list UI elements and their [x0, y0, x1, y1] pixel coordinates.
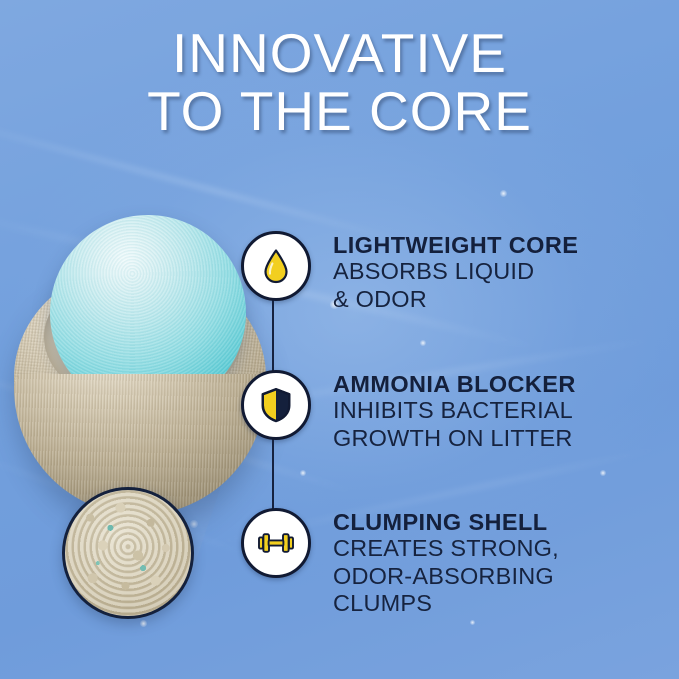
feature-description: CREATES STRONG, ODOR-ABSORBING CLUMPS: [333, 535, 559, 618]
sparkle: [420, 340, 426, 346]
feature-description-line: & ODOR: [333, 286, 578, 314]
feature-row-lightweight-core: LIGHTWEIGHT CORE ABSORBS LIQUID & ODOR: [241, 231, 578, 313]
page-title: INNOVATIVE TO THE CORE: [0, 24, 679, 140]
feature-description-line: CREATES STRONG,: [333, 535, 559, 563]
feature-text: AMMONIA BLOCKER INHIBITS BACTERIAL GROWT…: [333, 370, 576, 452]
sparkle: [500, 190, 507, 197]
feature-description-line: CLUMPS: [333, 590, 559, 618]
feature-badge: [241, 370, 311, 440]
shield-icon: [257, 386, 295, 424]
feature-row-ammonia-blocker: AMMONIA BLOCKER INHIBITS BACTERIAL GROWT…: [241, 370, 576, 452]
magnified-litter-granules: [62, 487, 194, 619]
infographic-canvas: INNOVATIVE TO THE CORE LIGHTWEIGHT CORE …: [0, 0, 679, 679]
droplet-icon: [257, 247, 295, 285]
feature-description-line: ODOR-ABSORBING: [333, 563, 559, 591]
feature-badge: [241, 508, 311, 578]
feature-text: LIGHTWEIGHT CORE ABSORBS LIQUID & ODOR: [333, 231, 578, 313]
feature-row-clumping-shell: CLUMPING SHELL CREATES STRONG, ODOR-ABSO…: [241, 508, 559, 618]
feature-description-line: INHIBITS BACTERIAL: [333, 397, 576, 425]
feature-title: LIGHTWEIGHT CORE: [333, 232, 578, 258]
page-title-line-1: INNOVATIVE: [0, 24, 679, 82]
feature-description-line: GROWTH ON LITTER: [333, 425, 576, 453]
feature-description: INHIBITS BACTERIAL GROWTH ON LITTER: [333, 397, 576, 452]
feature-title: AMMONIA BLOCKER: [333, 371, 576, 397]
dumbbell-icon: [256, 523, 296, 563]
page-title-line-2: TO THE CORE: [0, 82, 679, 140]
feature-title: CLUMPING SHELL: [333, 509, 559, 535]
feature-description-line: ABSORBS LIQUID: [333, 258, 578, 286]
sparkle: [470, 620, 475, 625]
feature-text: CLUMPING SHELL CREATES STRONG, ODOR-ABSO…: [333, 508, 559, 618]
sparkle: [600, 470, 606, 476]
sparkle: [300, 470, 306, 476]
feature-badge: [241, 231, 311, 301]
feature-description: ABSORBS LIQUID & ODOR: [333, 258, 578, 313]
